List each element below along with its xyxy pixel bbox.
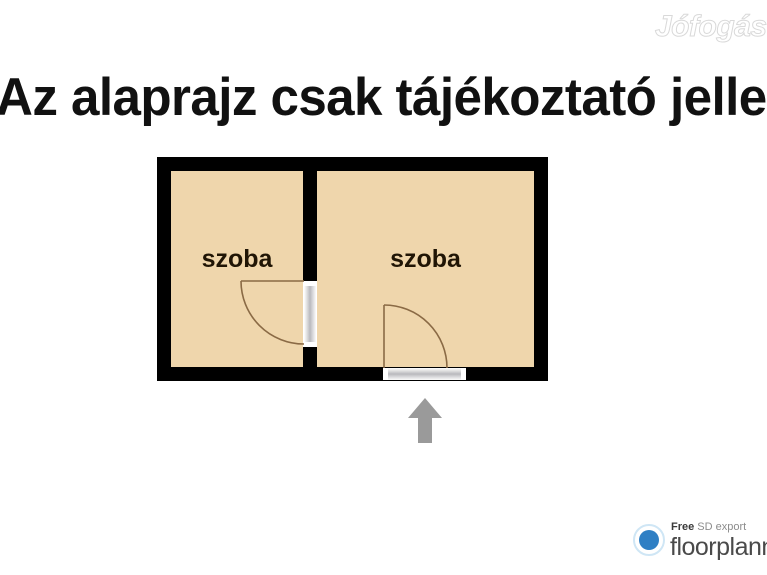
interior-door-swing [239, 279, 307, 349]
jofogas-watermark: Jófogás [655, 10, 767, 44]
wall-top [157, 157, 548, 171]
wall-right [534, 157, 548, 381]
logo-tagline: Free SD export [671, 521, 746, 533]
room-label-left: szoba [171, 245, 303, 274]
logo-brand: floorplanner [670, 533, 767, 562]
logo-tagline-free: Free [671, 521, 694, 533]
floorplanner-badge-inner [639, 530, 659, 550]
entry-door-swing [382, 303, 468, 371]
wall-bottom-gap-filler-right [466, 367, 548, 381]
floorplan-image: Jófogás Az alaprajz csak tájékoztató jel… [0, 0, 767, 575]
room-label-right: szoba [317, 245, 534, 274]
disclaimer-headline: Az alaprajz csak tájékoztató jellegű! [0, 68, 744, 128]
logo-tagline-rest: SD export [694, 521, 746, 533]
entrance-arrow-icon [405, 396, 445, 444]
wall-divider-upper [303, 157, 317, 281]
floorplan-drawing: szoba szoba [157, 157, 548, 381]
wall-bottom-gap-filler-left [157, 367, 383, 381]
floorplanner-logo: Free SD export floorplanner [633, 518, 763, 564]
floorplanner-badge-icon [633, 524, 665, 556]
wall-left [157, 157, 171, 381]
